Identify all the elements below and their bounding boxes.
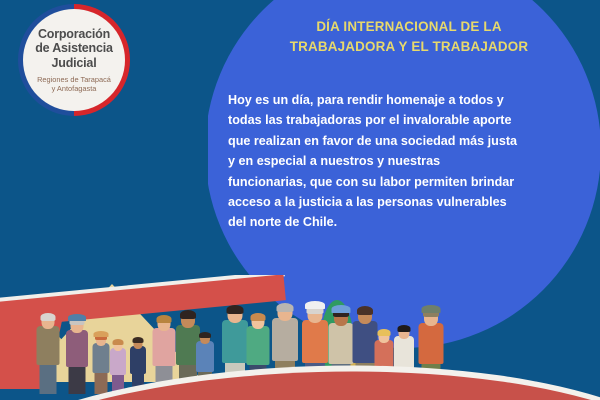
page-title: DÍA INTERNACIONAL DE LA TRABAJADORA Y EL… [244,17,574,58]
person-hat [421,305,440,313]
person-torso [418,323,443,364]
person-hair [156,315,171,323]
logo-subtitle-line-2: y Antofagasta [37,84,111,93]
body-line-4: y en especial a nuestros y nuestras [228,151,578,171]
body-line-3: que realizan en favor de una sociedad má… [228,131,578,151]
person-hair [377,329,390,336]
logo-subtitle: Regiones de Tarapacá y Antofagasta [37,75,111,94]
logo-inner-disc: Corporación de Asistencia Judicial Regio… [23,9,125,111]
body-line-5: funcionarias, que con su labor permiten … [228,172,578,192]
person-torso [152,328,175,366]
person-hair [398,325,411,332]
corporacion-de-asistencia-judicial-logo: Corporación de Asistencia Judicial Regio… [18,4,130,116]
page-title-line-2: TRABAJADORA Y EL TRABAJADOR [244,37,574,57]
person-torso [110,348,126,375]
logo-title-line-2: de Asistencia [35,41,113,56]
person-torso [246,326,269,365]
person-hair [277,303,294,312]
person-torso [328,323,353,364]
logo-title: Corporación de Asistencia Judicial [35,27,113,71]
person-hat [331,305,350,313]
page-title-line-1: DÍA INTERNACIONAL DE LA [244,17,574,37]
person-hair [227,305,244,314]
crowd-of-workers-illustration [0,275,600,400]
body-line-1: Hoy es un día, para rendir homenaje a to… [228,90,578,110]
person-girl-in-purple [110,342,126,394]
person-torso [394,336,414,369]
body-paragraph: Hoy es un día, para rendir homenaje a to… [228,90,578,233]
person-torso [130,346,146,374]
person-torso [272,318,298,361]
person-elderly-man-with-cane [36,316,59,394]
person-torso [92,343,109,373]
logo-subtitle-line-1: Regiones de Tarapacá [37,75,111,84]
logo-title-line-3: Judicial [35,56,113,71]
person-hair [133,337,144,343]
person-legs [69,367,86,394]
person-elderly-woman [66,320,88,394]
poster-canvas: Corporación de Asistencia Judicial Regio… [0,0,600,400]
person-torso [302,320,328,363]
person-hat [93,331,108,337]
person-hair [199,332,211,338]
person-hair [180,310,196,319]
person-torso [196,341,214,372]
person-hair [40,313,55,321]
person-torso [222,320,248,363]
person-legs [94,373,107,394]
logo-title-line-1: Corporación [35,27,113,42]
person-hair [113,339,124,345]
body-line-2: todas las trabajadoras por el invalorabl… [228,110,578,130]
person-legs [39,365,56,394]
person-hat [305,301,325,309]
body-line-7: del norte de Chile. [228,212,578,232]
person-woman-with-sunhat [92,336,109,394]
person-hair [250,313,265,321]
person-hair [357,306,373,315]
body-line-6: acceso a la justicia a las personas vuln… [228,192,578,212]
person-torso [36,326,59,365]
person-hat [68,314,86,321]
person-torso [66,330,88,367]
